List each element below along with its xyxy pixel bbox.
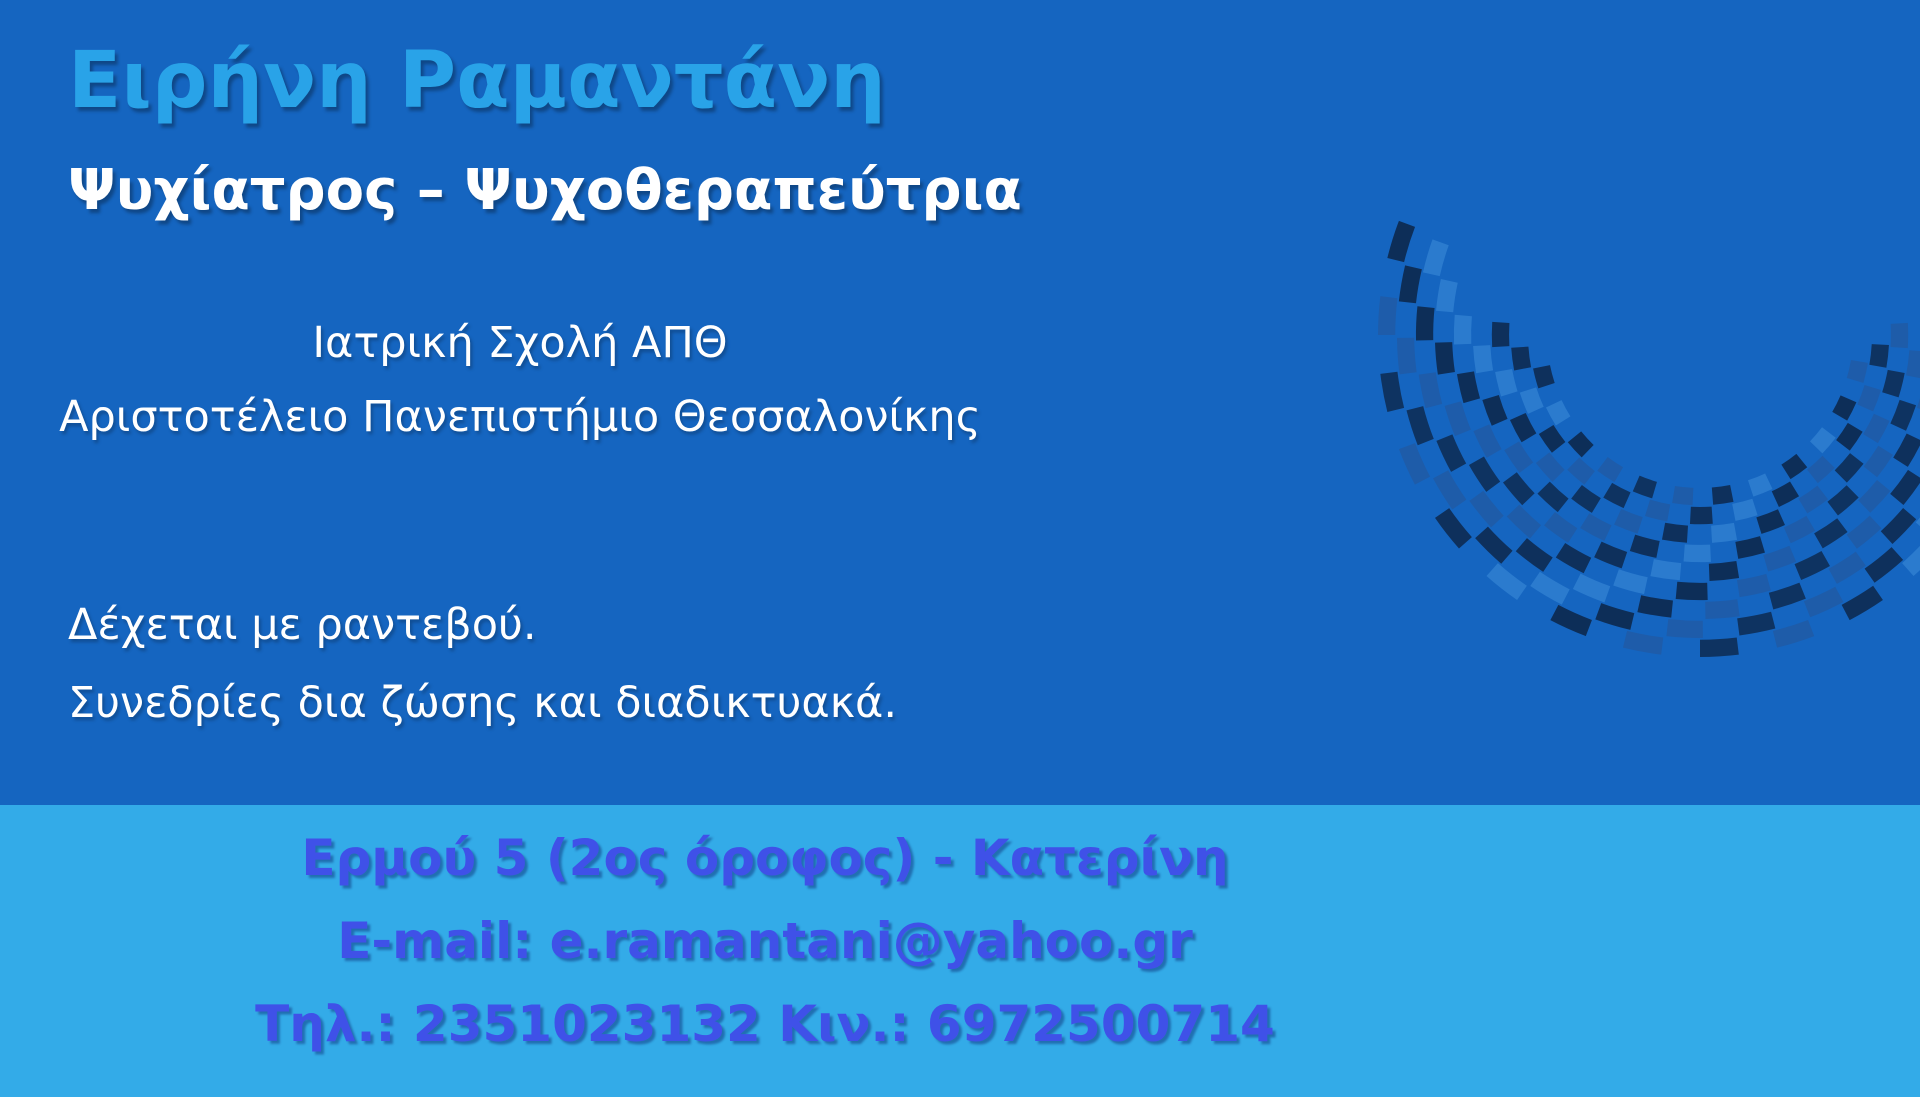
appointment-note: Δέχεται με ραντεβού. [68,600,537,650]
contact-phones[interactable]: Τηλ.: 2351023132 Κιν.: 6972500714 [0,995,1530,1053]
session-modes-note: Συνεδρίες δια ζώσης και διαδικτυακά. [68,678,897,728]
contact-footer: Ερμού 5 (2ος όροφος) - Κατερίνη E-mail: … [0,805,1920,1097]
credential-school: Ιατρική Σχολή ΑΠΘ [0,318,1040,368]
business-card: Ειρήνη Ραμαντάνη Ψυχίατρος – Ψυχοθεραπεύ… [0,0,1920,1097]
practitioner-profession: Ψυχίατρος – Ψυχοθεραπεύτρια [68,158,1022,223]
contact-address: Ερμού 5 (2ος όροφος) - Κατερίνη [0,829,1530,887]
spiral-circle-logo-icon [1370,5,1920,665]
text-block: Ειρήνη Ραμαντάνη Ψυχίατρος – Ψυχοθεραπεύ… [0,0,1180,805]
main-panel: Ειρήνη Ραμαντάνη Ψυχίατρος – Ψυχοθεραπεύ… [0,0,1920,805]
credential-university: Αριστοτέλειο Πανεπιστήμιο Θεσσαλονίκης [0,392,1040,442]
contact-email[interactable]: E-mail: e.ramantani@yahoo.gr [0,912,1530,970]
practitioner-name: Ειρήνη Ραμαντάνη [68,36,886,126]
